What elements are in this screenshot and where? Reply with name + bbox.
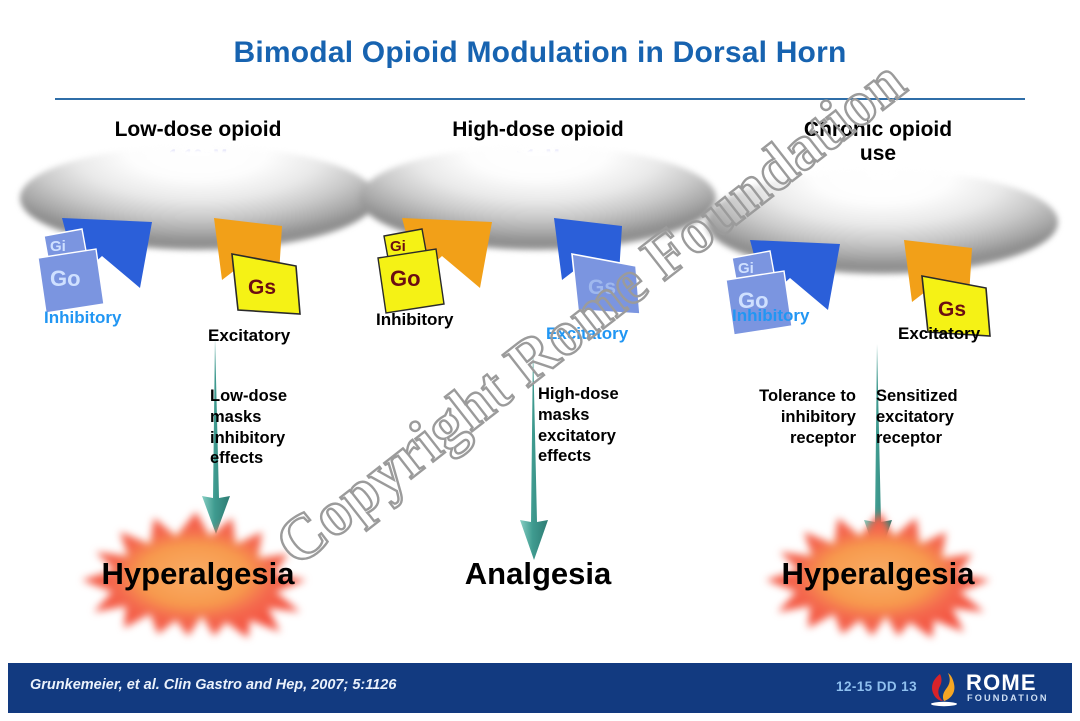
- excitatory-caption: Excitatory: [546, 324, 628, 344]
- effect-text-right: Sensitized excitatory receptor: [876, 386, 1046, 448]
- gs-box: [204, 218, 354, 338]
- rome-foundation-logo[interactable]: ROME FOUNDATION: [926, 670, 1058, 708]
- outcome-label: Analgesia: [368, 556, 708, 592]
- gs-box: [544, 218, 694, 338]
- effect-text-left: Tolerance to inhibitory receptor: [708, 386, 856, 448]
- citation-text: Grunkemeier, et al. Clin Gastro and Hep,…: [30, 677, 396, 693]
- column-heading: Low-dose opioid: [28, 118, 368, 142]
- slide: Bimodal Opioid Modulation in Dorsal Horn…: [0, 0, 1080, 721]
- excitatory-receptor[interactable]: Gs: [204, 218, 354, 338]
- effect-text: High-dose masks excitatory effects: [538, 384, 619, 467]
- column-low-dose: Low-dose opioid 1-10nM Gi Go Inhibitory: [28, 118, 368, 648]
- outcome-label: Hyperalgesia: [28, 556, 368, 592]
- column-heading: High-dose opioid: [368, 118, 708, 142]
- inhibitory-caption: Inhibitory: [44, 308, 121, 328]
- excitatory-receptor[interactable]: Gs: [544, 218, 694, 338]
- page-title: Bimodal Opioid Modulation in Dorsal Horn: [0, 36, 1080, 70]
- flame-icon: [926, 670, 962, 708]
- excitatory-caption: Excitatory: [898, 324, 980, 344]
- column-heading: Chronic opioid use: [708, 118, 1048, 165]
- column-high-dose: High-dose opioid >1µM Gi Go Inhibitory: [368, 118, 708, 648]
- inhibitory-caption: Inhibitory: [376, 310, 453, 330]
- logo-wordmark: ROME: [966, 672, 1037, 694]
- inhibitory-receptor[interactable]: Gi Go: [722, 238, 872, 358]
- effect-text: Low-dose masks inhibitory effects: [210, 386, 287, 469]
- inhibitory-caption: Inhibitory: [732, 306, 809, 326]
- column-chronic-use: Chronic opioid use Gi Go Inhibitory Gs: [708, 118, 1048, 648]
- outcome-label: Hyperalgesia: [708, 556, 1048, 592]
- logo-subtitle: FOUNDATION: [967, 694, 1049, 703]
- footer-bar: Grunkemeier, et al. Clin Gastro and Hep,…: [8, 663, 1072, 713]
- title-divider: [55, 98, 1025, 100]
- go-box: [722, 238, 872, 358]
- slide-number: 12-15 DD 13: [836, 679, 917, 694]
